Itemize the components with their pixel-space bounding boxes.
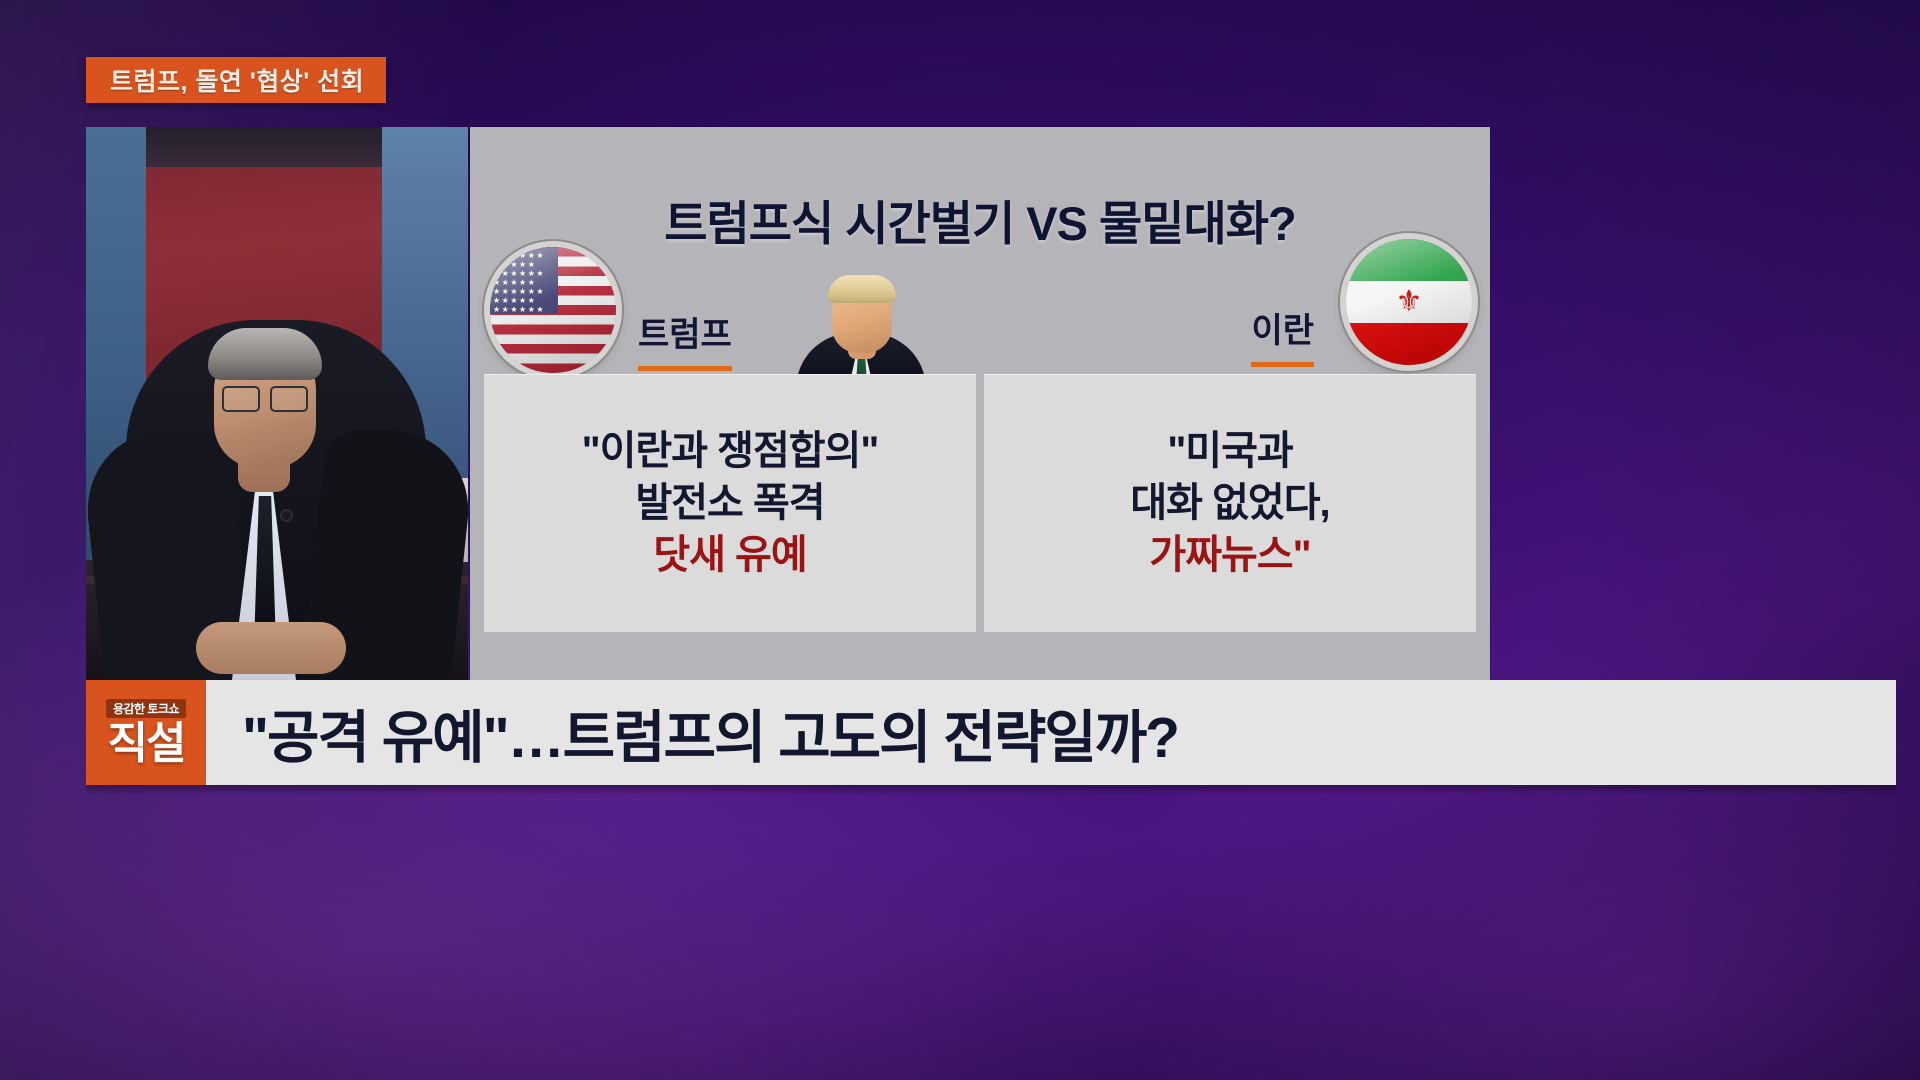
- headline-text: 트럼프, 돌연 '협상' 선회: [110, 62, 364, 98]
- eyeglasses-icon: [222, 386, 308, 408]
- quote-line: 대화 없었다,: [1130, 477, 1329, 529]
- lapel-microphone-icon: [282, 511, 291, 520]
- lower-third-ticker: 용감한 토크쇼 직설 "공격 유예"…트럼프의 고도의 전략일까?: [86, 680, 1896, 785]
- trump-hair: [828, 275, 896, 303]
- iran-flag-icon: ⚜: [1346, 239, 1472, 365]
- headline-banner: 트럼프, 돌연 '협상' 선회: [86, 57, 386, 103]
- ticker-dropshadow: [86, 785, 1896, 795]
- medallion-gloss: [490, 247, 616, 373]
- ticker-headline: "공격 유예"…트럼프의 고도의 전략일까?: [242, 692, 1178, 774]
- guest-hands: [196, 622, 346, 674]
- quote-line-highlight: 닷새 유예: [653, 529, 806, 581]
- quote-line: "이란과 쟁점합의": [582, 425, 879, 477]
- graphic-panel: 트럼프식 시간벌기 VS 물밑대화? ★★★★★★★★★★★★★★★★★★★★★…: [470, 127, 1490, 680]
- quote-line: "미국과: [1167, 425, 1292, 477]
- label-trump: 트럼프: [638, 307, 732, 371]
- studio-video-feed: [86, 127, 468, 680]
- ticker-text-area: "공격 유예"…트럼프의 고도의 전략일까?: [206, 680, 1896, 785]
- quote-line: 발전소 폭격: [635, 477, 824, 529]
- program-logo-title: 직설: [108, 722, 185, 766]
- quote-row: "이란과 쟁점합의" 발전소 폭격 닷새 유예 "미국과 대화 없었다, 가짜뉴…: [484, 374, 1476, 632]
- quote-line-highlight: 가짜뉴스": [1149, 529, 1310, 581]
- program-logo: 용감한 토크쇼 직설: [86, 680, 206, 785]
- panel-title: 트럼프식 시간벌기 VS 물밑대화?: [470, 185, 1490, 254]
- quote-box-trump: "이란과 쟁점합의" 발전소 폭격 닷새 유예: [484, 374, 976, 632]
- us-flag-icon: ★★★★★★★★★★★★★★★★★★★★★★★★★★★★★★★★★★★★★★★: [490, 247, 616, 373]
- quote-box-iran: "미국과 대화 없었다, 가짜뉴스": [984, 374, 1476, 632]
- label-iran: 이란: [1251, 303, 1314, 367]
- program-logo-subtitle: 용감한 토크쇼: [106, 699, 186, 718]
- guest-hair: [208, 328, 322, 380]
- medallion-gloss: [1346, 239, 1472, 365]
